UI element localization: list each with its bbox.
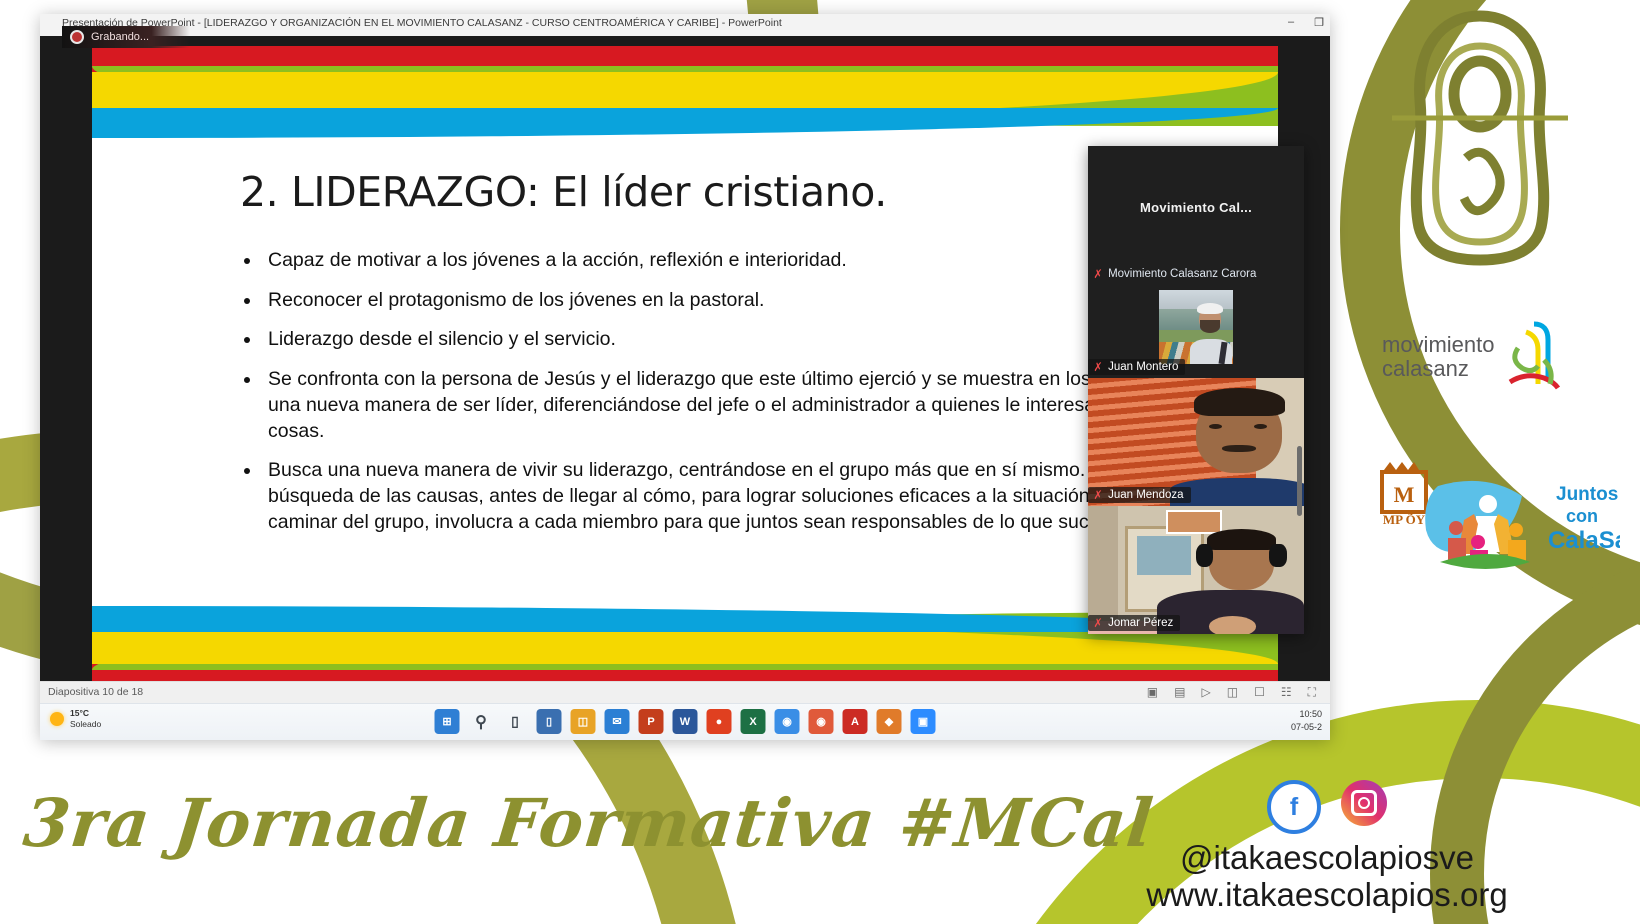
list-item: Capaz de motivar a los jóvenes a la acci… <box>262 248 1222 274</box>
slide-title: 2. LIDERAZGO: El líder cristiano. <box>240 168 887 216</box>
windows-taskbar[interactable]: 15°C Soleado ⊞ ⚲ ▯ ▯ ◫ ✉ P W ● X ◉ ◉ A ◆… <box>40 703 1330 740</box>
weather-condition: Soleado <box>70 719 101 729</box>
zoom-participant-panel[interactable]: Movimiento Cal... ✗ Movimiento Calasanz … <box>1088 146 1304 634</box>
normal-view-icon[interactable]: ▣ <box>1147 685 1158 700</box>
clock-date: 07-05-2 <box>1291 721 1322 734</box>
calasanz-figure-logo <box>1380 8 1580 268</box>
participant-name-row: ✗ Movimiento Calasanz Carora <box>1088 266 1263 282</box>
campaign-line-2: con <box>1566 506 1598 526</box>
participant-name: Jomar Pérez <box>1108 617 1173 629</box>
participant-tile-video-2[interactable]: ✗ Jomar Pérez <box>1088 506 1304 634</box>
sorter-view-icon[interactable]: ▤ <box>1174 685 1185 700</box>
avatar <box>1159 290 1233 364</box>
marian-crest-icon: M MP ÕY <box>1382 462 1426 527</box>
muted-mic-icon: ✗ <box>1094 617 1103 629</box>
participant-name-row: ✗ Juan Mendoza <box>1088 487 1191 503</box>
zoom-panel-header: Movimiento Cal... <box>1088 146 1304 256</box>
chrome-icon[interactable]: ◉ <box>775 709 800 734</box>
reading-view-icon[interactable]: ▷ <box>1201 685 1210 700</box>
start-button[interactable]: ⊞ <box>435 709 460 734</box>
participant-tile-host[interactable]: ✗ Movimiento Calasanz Carora <box>1088 256 1304 288</box>
taskbar-clock[interactable]: 10:50 07-05-2 <box>1291 708 1322 734</box>
window-controls[interactable]: – ❐ <box>1284 16 1326 29</box>
participant-name: Movimiento Calasanz Carora <box>1108 268 1256 280</box>
weather-temperature: 15°C <box>70 708 89 718</box>
movimiento-calasanz-logo: movimiento calasanz <box>1382 320 1597 398</box>
comments-icon[interactable]: ☐ <box>1254 685 1265 700</box>
app-icon[interactable]: ◆ <box>877 709 902 734</box>
clock-time: 10:50 <box>1291 708 1322 721</box>
logo-line-1: movimiento <box>1382 333 1494 357</box>
app-red-icon[interactable]: ● <box>707 709 732 734</box>
fullscreen-icon[interactable]: ⛶ <box>1308 685 1316 700</box>
facebook-icon[interactable]: f <box>1267 780 1321 834</box>
crest-text: MP ÕY <box>1383 512 1426 527</box>
participant-panel-scrollbar[interactable] <box>1297 446 1302 516</box>
powerpoint-icon[interactable]: P <box>639 709 664 734</box>
task-view-icon[interactable]: ▯ <box>503 709 528 734</box>
website-url: www.itakaescolapios.org <box>1092 877 1562 914</box>
taskbar-app-icons[interactable]: ⊞ ⚲ ▯ ▯ ◫ ✉ P W ● X ◉ ◉ A ◆ ▣ <box>435 709 936 734</box>
slide-counter: Diapositiva 10 de 18 <box>48 686 143 698</box>
instagram-icon[interactable] <box>1341 780 1387 826</box>
weather-widget[interactable]: 15°C Soleado <box>50 708 101 730</box>
chat-icon[interactable]: ▯ <box>537 709 562 734</box>
browser-icon[interactable]: ◉ <box>809 709 834 734</box>
event-headline: 3ra Jornada Formativa #MCal <box>20 784 1157 862</box>
campaign-line-3: CalaSanz <box>1548 527 1620 554</box>
minimize-button[interactable]: – <box>1284 16 1298 29</box>
view-controls[interactable]: ▣ ▤ ▷ ◫ ☐ ☷ ⛶ <box>1147 685 1316 700</box>
muted-mic-icon: ✗ <box>1094 361 1103 373</box>
calasanz-mark-icon <box>1504 320 1560 394</box>
participant-name: Juan Montero <box>1108 361 1178 373</box>
list-item: Reconocer el protagonismo de los jóvenes… <box>262 288 1222 314</box>
list-item: Se confronta con la persona de Jesús y e… <box>262 367 1222 444</box>
search-icon[interactable]: ⚲ <box>469 709 494 734</box>
participant-name: Juan Mendoza <box>1108 489 1183 501</box>
zoom-icon[interactable]: ▣ <box>911 709 936 734</box>
excel-icon[interactable]: X <box>741 709 766 734</box>
powerpoint-status-bar: Diapositiva 10 de 18 ▣ ▤ ▷ ◫ ☐ ☷ ⛶ <box>40 681 1330 704</box>
svg-text:M: M <box>1394 482 1415 507</box>
sun-icon <box>50 712 64 726</box>
pdf-icon[interactable]: A <box>843 709 868 734</box>
participant-tile-video-1[interactable]: ✗ Juan Mendoza <box>1088 378 1304 506</box>
meeting-title: Movimiento Cal... <box>1088 200 1304 215</box>
record-dot-icon <box>70 30 84 44</box>
campaign-line-1: Juntos <box>1556 484 1618 505</box>
notes-icon[interactable]: ◫ <box>1227 685 1238 700</box>
participant-name-row: ✗ Jomar Pérez <box>1088 615 1180 631</box>
restore-button[interactable]: ❐ <box>1312 16 1326 29</box>
recording-indicator: Grabando... <box>62 26 190 48</box>
participant-name-row: ✗ Juan Montero <box>1088 359 1185 375</box>
juntos-con-calasanz-logo: M MP ÕY Juntos con CalaSanz <box>1360 450 1620 580</box>
participant-tile-avatar[interactable]: ✗ Juan Montero <box>1088 288 1304 378</box>
muted-mic-icon: ✗ <box>1094 268 1103 280</box>
word-icon[interactable]: W <box>673 709 698 734</box>
recording-label: Grabando... <box>91 31 149 43</box>
list-item: Liderazgo desde el silencio y el servici… <box>262 327 1222 353</box>
logo-line-2: calasanz <box>1382 357 1494 381</box>
list-item: Busca una nueva manera de vivir su lider… <box>262 458 1222 535</box>
slide-bullet-list: Capaz de motivar a los jóvenes a la acci… <box>242 248 1222 550</box>
fit-slide-icon[interactable]: ☷ <box>1281 685 1292 700</box>
social-block: f @itakaescolapiosve www.itakaescolapios… <box>1092 780 1562 914</box>
social-icons[interactable]: f <box>1092 780 1562 834</box>
muted-mic-icon: ✗ <box>1094 489 1103 501</box>
social-handle: @itakaescolapiosve <box>1092 840 1562 877</box>
mail-icon[interactable]: ✉ <box>605 709 630 734</box>
file-explorer-icon[interactable]: ◫ <box>571 709 596 734</box>
slide-wave-blue-top <box>92 108 1278 138</box>
window-title-bar: Presentación de PowerPoint - [LIDERAZGO … <box>40 14 1330 37</box>
